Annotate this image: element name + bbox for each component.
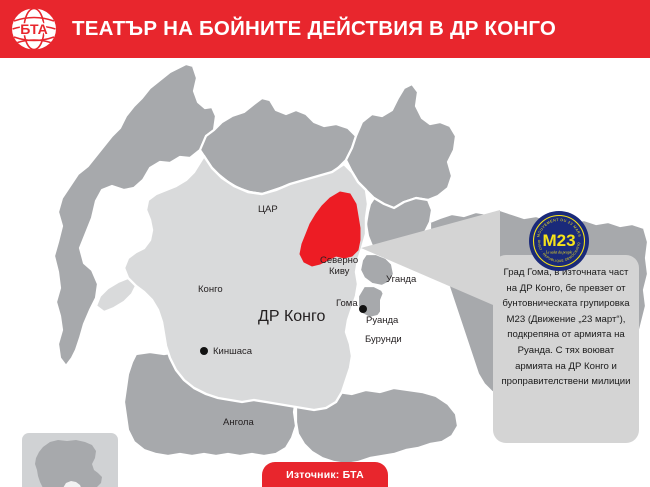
callout-text: Град Гома, в източната част на ДР Конго,…: [499, 265, 633, 390]
city-dot-goma: [359, 305, 367, 313]
page-title: ТЕАТЪР НА БОЙНИТЕ ДЕЙСТВИЯ В ДР КОНГО: [72, 12, 632, 46]
header-bar: БТА ТЕАТЪР НА БОЙНИТЕ ДЕЙСТВИЯ В ДР КОНГ…: [0, 0, 650, 58]
map-container: Град Гома, в източната част на ДР Конго,…: [0, 58, 650, 487]
city-dot-kinshasa: [200, 347, 208, 355]
source-banner: Източник: БТА: [262, 462, 388, 487]
badge-subtitle: Le salut du peuple: [545, 251, 573, 255]
africa-continent-shape: [35, 440, 102, 487]
callout-box: Град Гома, в източната част на ДР Конго,…: [493, 255, 639, 443]
svg-text:БТА: БТА: [20, 21, 48, 37]
source-label: Източник: БТА: [286, 469, 364, 481]
infographic-page: БТА ТЕАТЪР НА БОЙНИТЕ ДЕЙСТВИЯ В ДР КОНГ…: [0, 0, 650, 487]
dr-congo-coast-strip: [96, 278, 136, 312]
africa-inset-panel: [22, 433, 118, 487]
bta-globe-logo-icon: БТА: [11, 8, 57, 50]
africa-inset-map: [22, 433, 118, 487]
lake-tanganyika: [378, 290, 392, 358]
badge-main-text: M23: [542, 231, 575, 250]
m23-badge: MOUVEMENT DU 23 MARS CONGO · REPUBLIQUE …: [528, 210, 590, 272]
